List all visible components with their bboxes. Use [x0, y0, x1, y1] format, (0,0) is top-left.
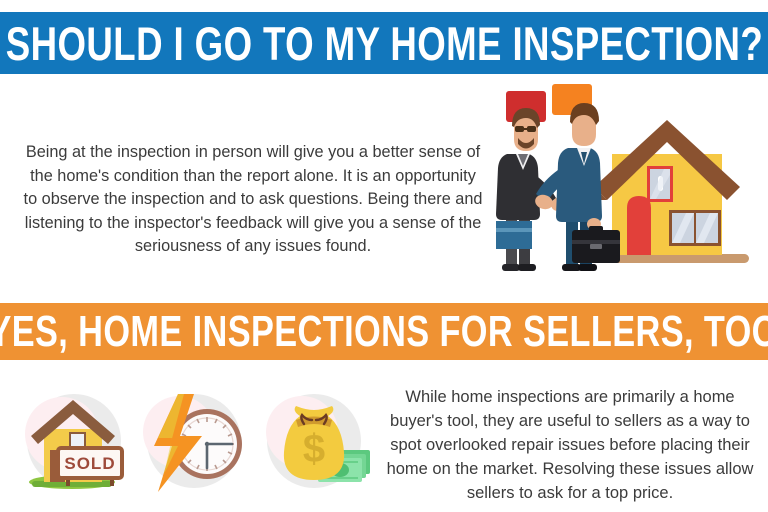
icon-cell-lightning-clock: [134, 384, 254, 502]
sold-house-icon: SOLD: [14, 384, 134, 502]
benefit-icon-row: SOLD: [14, 383, 374, 503]
intro-paragraph: Being at the inspection in person will g…: [22, 141, 484, 259]
handshake-house-illustration: [484, 82, 768, 278]
lightning-clock-icon: [134, 384, 254, 502]
sellers-paragraph: While home inspections are primarily a h…: [383, 385, 757, 505]
sold-sign-label: SOLD: [64, 454, 115, 473]
money-bag-icon: $: [254, 384, 374, 502]
section-banner: YES, HOME INSPECTIONS FOR SELLERS, TOO: [0, 303, 768, 360]
header-banner: SHOULD I GO TO MY HOME INSPECTION?: [0, 12, 768, 74]
section-banner-title: YES, HOME INSPECTIONS FOR SELLERS, TOO: [0, 310, 768, 354]
dollar-sign-label: $: [303, 427, 325, 471]
icon-cell-money-bag: $: [254, 384, 374, 502]
icon-cell-sold-house: SOLD: [14, 384, 134, 502]
header-banner-title: SHOULD I GO TO MY HOME INSPECTION?: [5, 20, 762, 67]
infographic-page: SHOULD I GO TO MY HOME INSPECTION? Being…: [0, 0, 768, 512]
